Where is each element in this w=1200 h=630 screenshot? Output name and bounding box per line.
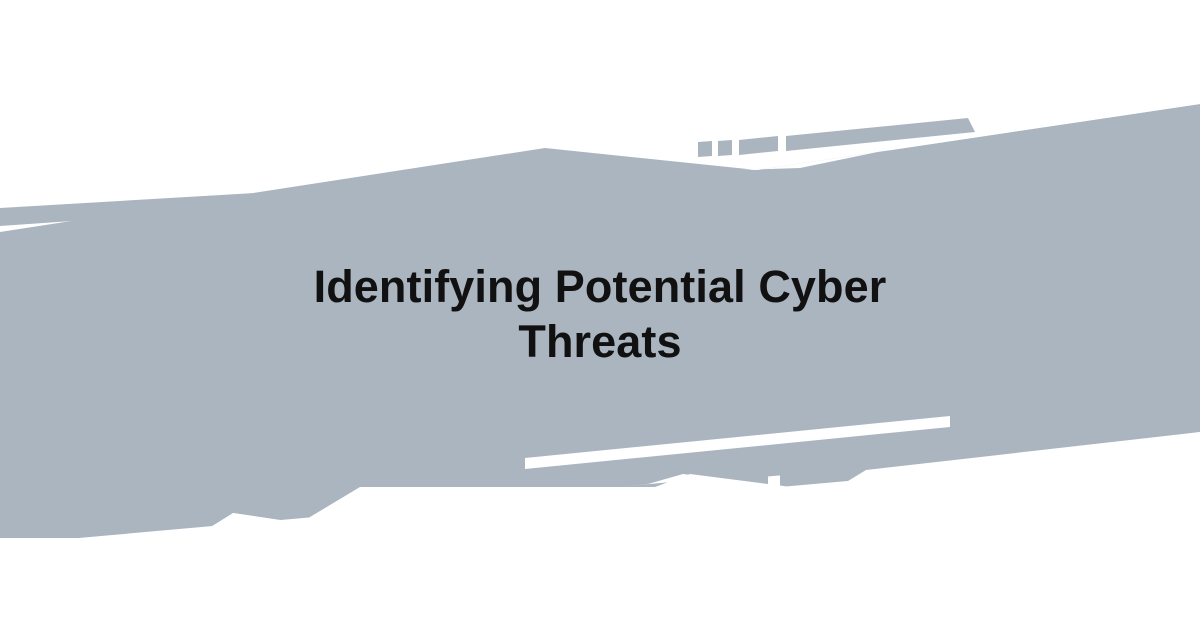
dash-square-small-1 (698, 141, 712, 157)
decorative-background-graphic (0, 0, 1200, 630)
dash-square-small-2 (718, 140, 732, 156)
dash-bar-medium (739, 136, 778, 155)
banner-canvas: Identifying Potential Cyber Threats (0, 0, 1200, 630)
